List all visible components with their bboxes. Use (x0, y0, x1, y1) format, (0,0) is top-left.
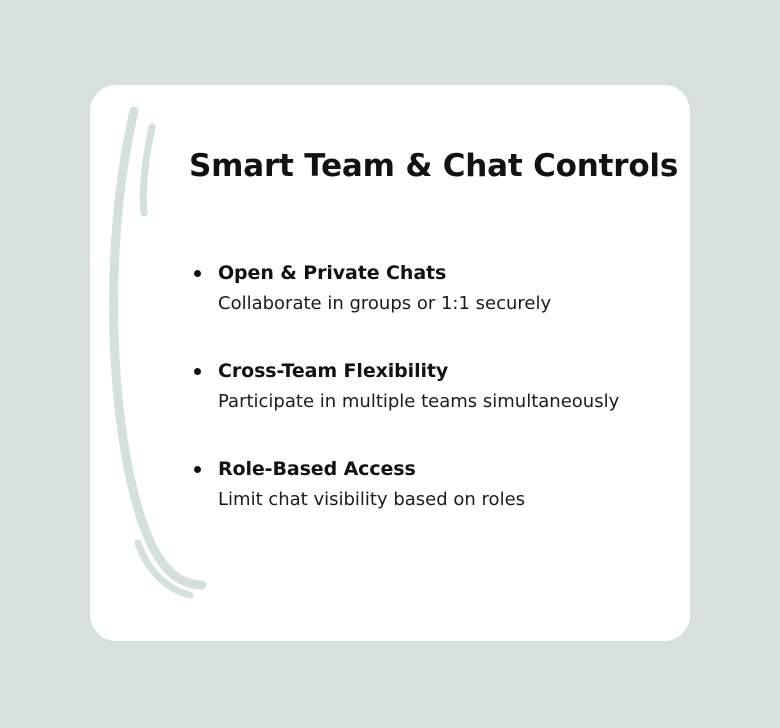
feature-description: Limit chat visibility based on roles (218, 488, 660, 511)
list-item: Open & Private Chats Collaborate in grou… (190, 261, 660, 315)
feature-title: Role-Based Access (218, 457, 660, 482)
feature-title: Cross-Team Flexibility (218, 359, 660, 384)
feature-card: Smart Team & Chat Controls Open & Privat… (90, 85, 690, 641)
page-title: Smart Team & Chat Controls (189, 149, 669, 185)
feature-title: Open & Private Chats (218, 261, 660, 286)
bullet-icon (194, 466, 201, 473)
feature-list: Open & Private Chats Collaborate in grou… (190, 261, 660, 511)
list-item: Role-Based Access Limit chat visibility … (190, 457, 660, 511)
bullet-icon (194, 270, 201, 277)
feature-description: Participate in multiple teams simultaneo… (218, 390, 660, 413)
list-item: Cross-Team Flexibility Participate in mu… (190, 359, 660, 413)
slide-canvas: Smart Team & Chat Controls Open & Privat… (0, 0, 780, 728)
feature-description: Collaborate in groups or 1:1 securely (218, 292, 660, 315)
bullet-icon (194, 368, 201, 375)
